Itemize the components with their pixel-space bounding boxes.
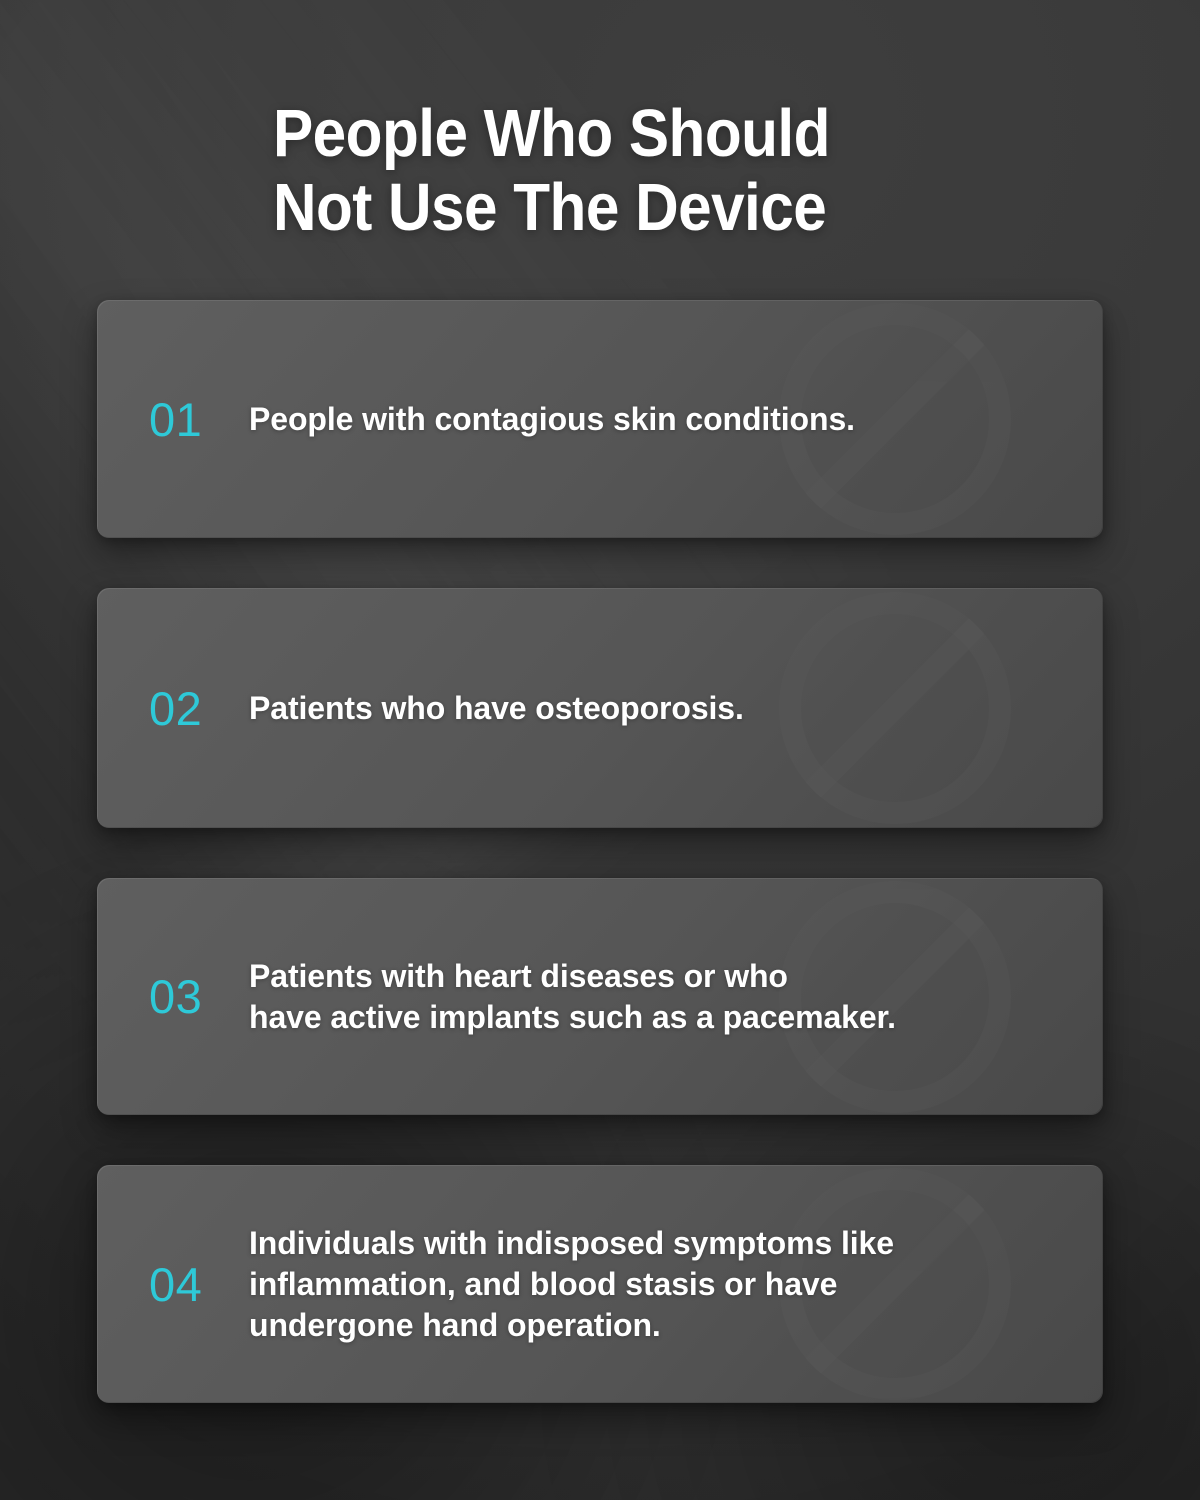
list-item-number: 04: [149, 1261, 249, 1308]
page-title: People Who Should Not Use The Device: [273, 97, 921, 245]
infographic-poster: People Who Should Not Use The Device 01 …: [0, 0, 1200, 1500]
list-item: 02 Patients who have osteoporosis.: [97, 588, 1103, 828]
list-item-number: 03: [149, 973, 249, 1020]
list-item-content: 04 Individuals with indisposed symptoms …: [97, 1165, 1103, 1403]
list-item-content: 01 People with contagious skin condition…: [97, 300, 1103, 538]
list-item: 01 People with contagious skin condition…: [97, 300, 1103, 538]
list-item-content: 02 Patients who have osteoporosis.: [97, 588, 1103, 828]
list-item-content: 03 Patients with heart diseases or who h…: [97, 878, 1103, 1115]
contraindication-list: 01 People with contagious skin condition…: [97, 300, 1103, 1403]
list-item-label: People with contagious skin conditions.: [249, 399, 1077, 440]
list-item-label: Patients with heart diseases or who have…: [249, 956, 1077, 1038]
list-item-label: Patients who have osteoporosis.: [249, 688, 1077, 729]
list-item-number: 02: [149, 685, 249, 732]
list-item: 03 Patients with heart diseases or who h…: [97, 878, 1103, 1115]
list-item: 04 Individuals with indisposed symptoms …: [97, 1165, 1103, 1403]
list-item-label: Individuals with indisposed symptoms lik…: [249, 1223, 1077, 1346]
list-item-number: 01: [149, 396, 249, 443]
